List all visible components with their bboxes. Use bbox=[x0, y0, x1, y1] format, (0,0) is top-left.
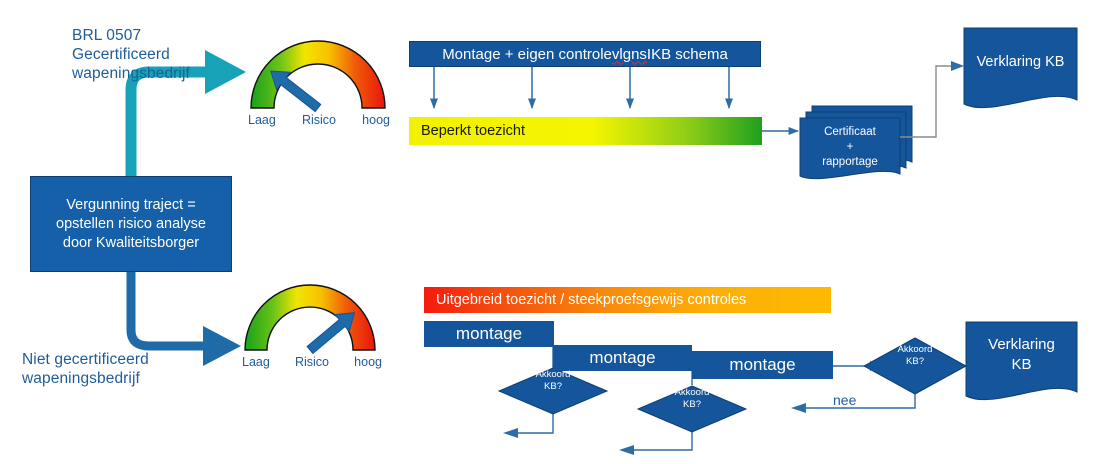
decision-diamond-3[interactable] bbox=[864, 338, 966, 394]
gauge-bottom-tick-high: hoog bbox=[354, 355, 382, 369]
gauge-bottom-tick-mid: Risico bbox=[295, 355, 329, 369]
reject-arrow-2 bbox=[619, 432, 692, 455]
diagram-canvas: BRL 0507 Gecertificeerd wapeningsbedrijf… bbox=[0, 0, 1094, 464]
branch-label-certified: BRL 0507 Gecertificeerd wapeningsbedrijf bbox=[72, 26, 262, 83]
ikb-control-arrows bbox=[434, 67, 729, 108]
gauge-top-graphic bbox=[251, 41, 385, 117]
beperkt-toezicht-bar[interactable]: Beperkt toezicht bbox=[409, 117, 762, 145]
decision-diamond-2[interactable] bbox=[638, 386, 746, 432]
branch-label-uncertified: Niet gecertificeerd wapeningsbedrijf bbox=[22, 350, 222, 388]
decision-diamond-1[interactable] bbox=[499, 368, 607, 414]
montage-step-2[interactable]: montage bbox=[553, 345, 692, 371]
montage-ikb-suffix: IKB schema bbox=[647, 46, 728, 63]
uitgebreid-toezicht-bar[interactable]: Uitgebreid toezicht / steekproefsgewijs … bbox=[424, 287, 831, 313]
verklaring-kb-bottom-document bbox=[966, 322, 1077, 400]
reject-arrow-1 bbox=[503, 413, 553, 438]
montage-ikb-misspelled: vlgns bbox=[612, 46, 647, 63]
gauge-bottom-tick-low: Laag bbox=[242, 355, 270, 369]
certificaat-document-stack bbox=[800, 106, 912, 179]
permit-process-box[interactable]: Vergunning traject = opstellen risico an… bbox=[30, 176, 232, 272]
montage-ikb-bar[interactable]: Montage + eigen controle vlgns IKB schem… bbox=[409, 41, 761, 67]
gauge-bottom-ticks: Laag Risico hoog bbox=[242, 355, 382, 369]
gauge-bottom-graphic bbox=[245, 285, 375, 358]
gauge-top-tick-mid: Risico bbox=[302, 113, 336, 127]
montage-step-1[interactable]: montage bbox=[424, 321, 554, 347]
verklaring-kb-top-document bbox=[964, 28, 1077, 108]
montage-ikb-prefix: Montage + eigen controle bbox=[442, 46, 612, 63]
montage-step-3[interactable]: montage bbox=[692, 351, 833, 379]
gauge-top-tick-low: Laag bbox=[248, 113, 276, 127]
gauge-top-ticks: Laag Risico hoog bbox=[248, 113, 390, 127]
reject-label-nee: nee bbox=[833, 392, 856, 408]
gauge-top-tick-high: hoog bbox=[362, 113, 390, 127]
